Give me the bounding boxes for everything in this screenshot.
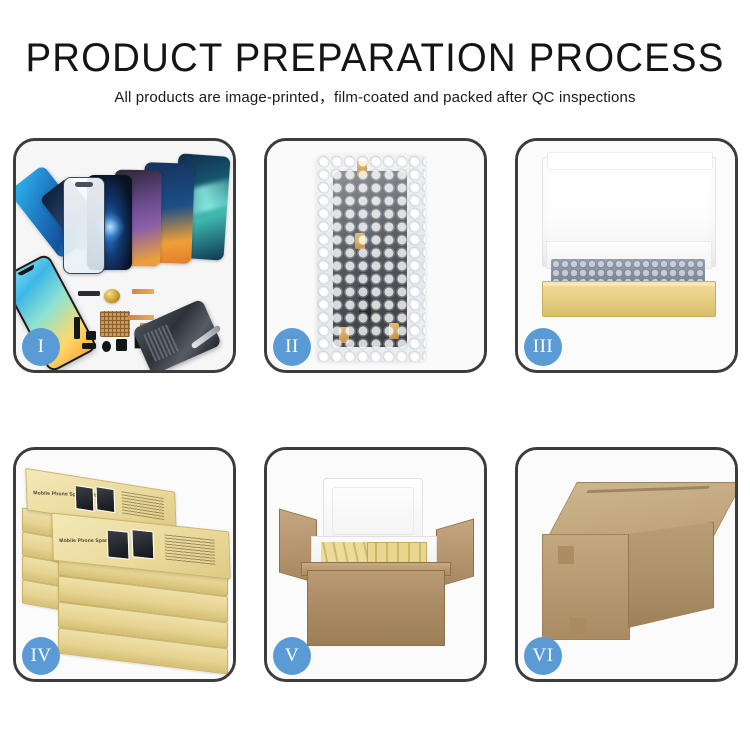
- header: PRODUCT PREPARATION PROCESS All products…: [0, 36, 750, 107]
- process-step-panel-2[interactable]: II: [264, 138, 487, 373]
- process-step-panel-5[interactable]: V: [264, 447, 487, 682]
- tape-icon: [389, 323, 399, 339]
- spare-part-icon: [74, 317, 80, 339]
- step-number-badge: IV: [22, 637, 60, 675]
- tape-icon: [339, 327, 349, 343]
- flex-cable-icon: [128, 315, 154, 320]
- yellow-box-base-icon: [542, 281, 716, 317]
- process-step-panel-3[interactable]: III: [515, 138, 738, 373]
- product-preparation-process-page: PRODUCT PREPARATION PROCESS All products…: [0, 0, 750, 750]
- step-number-badge: V: [273, 637, 311, 675]
- step-number-badge: III: [524, 328, 562, 366]
- step-number-badge: I: [22, 328, 60, 366]
- box-window-icon: [131, 529, 154, 559]
- page-subtitle: All products are image-printed，film-coat…: [0, 89, 750, 107]
- wrapped-part-icon: [333, 171, 407, 347]
- box-window-icon: [75, 485, 95, 512]
- process-step-grid: I II: [13, 138, 739, 682]
- box-spec-lines: [164, 533, 215, 564]
- copper-mesh-icon: [100, 311, 130, 337]
- box-window-icon: [96, 486, 116, 513]
- carton-tape-icon: [558, 546, 574, 564]
- box-spec-lines: [122, 491, 165, 520]
- spare-part-icon: [82, 343, 96, 349]
- tape-icon: [355, 233, 365, 249]
- step-number-badge: VI: [524, 637, 562, 675]
- process-step-panel-1[interactable]: I: [13, 138, 236, 373]
- process-step-panel-6[interactable]: VI: [515, 447, 738, 682]
- spare-part-icon: [86, 331, 96, 340]
- spare-part-icon: [116, 339, 127, 351]
- spare-part-icon: [102, 341, 111, 352]
- tape-icon: [357, 161, 367, 177]
- carton-body-icon: [307, 570, 445, 646]
- box-window-icon: [107, 529, 130, 559]
- gold-component-icon: [104, 289, 120, 303]
- process-step-panel-4[interactable]: Mobile Phone Spare Parts Mobile Phone Sp…: [13, 447, 236, 682]
- flex-cable-icon: [132, 289, 154, 294]
- carton-tape-icon: [570, 618, 586, 634]
- bubble-wrap-bag-icon: [317, 155, 425, 361]
- tempered-glass-icon: [63, 177, 105, 274]
- spare-part-icon: [78, 291, 100, 296]
- sealed-carton-front-icon: [542, 534, 630, 640]
- page-title: PRODUCT PREPARATION PROCESS: [15, 36, 735, 80]
- step-number-badge: II: [273, 328, 311, 366]
